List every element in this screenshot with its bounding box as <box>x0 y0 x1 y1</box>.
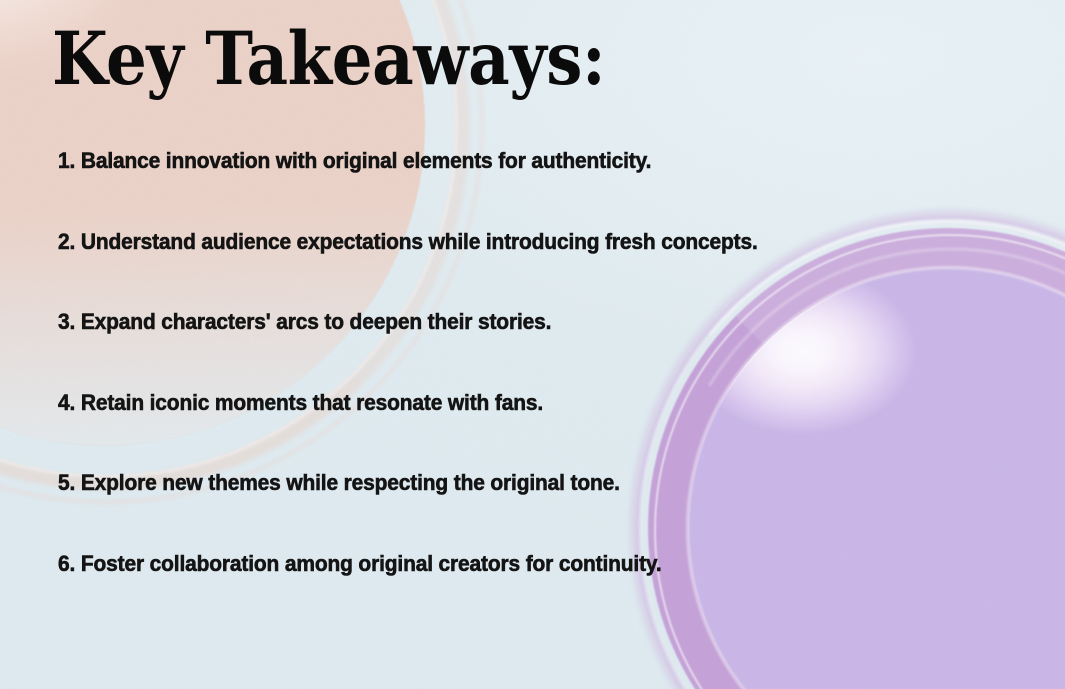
page-title: Key Takeaways: <box>52 22 605 97</box>
slide-canvas: Key Takeaways: 1. Balance innovation wit… <box>0 0 1065 689</box>
list-item: 4. Retain iconic moments that resonate w… <box>58 392 895 415</box>
list-item: 2. Understand audience expectations whil… <box>58 231 895 254</box>
list-item: 3. Expand characters' arcs to deepen the… <box>58 311 895 334</box>
list-item: 1. Balance innovation with original elem… <box>58 150 895 173</box>
takeaways-list: 1. Balance innovation with original elem… <box>58 150 958 575</box>
list-item: 5. Explore new themes while respecting t… <box>58 472 895 495</box>
list-item: 6. Foster collaboration among original c… <box>58 553 895 576</box>
slide-content: Key Takeaways: 1. Balance innovation wit… <box>0 0 1065 689</box>
